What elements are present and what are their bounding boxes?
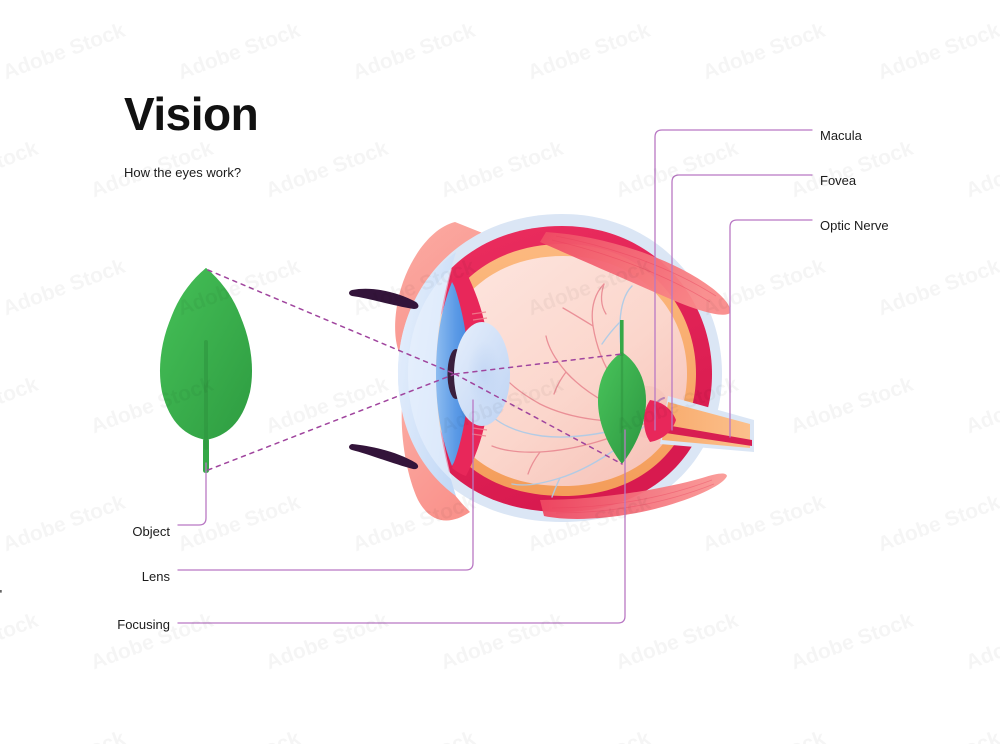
eye-structure (395, 214, 754, 522)
label-macula: Macula (820, 128, 862, 143)
label-focusing: Focusing (117, 617, 170, 632)
page-title: Vision (124, 91, 258, 137)
projected-leaf-midrib (621, 352, 623, 460)
label-fovea: Fovea (820, 173, 856, 188)
label-object: Object (132, 524, 170, 539)
leaf-midrib (204, 340, 208, 450)
label-lens: Lens (142, 569, 170, 584)
illustration-canvas: Vision How the eyes work? Macula Fovea O… (0, 0, 1000, 744)
object-leaf (158, 268, 252, 473)
lens-inner-glow (467, 341, 501, 407)
label-optic-nerve: Optic Nerve (820, 218, 889, 233)
page-subtitle: How the eyes work? (124, 165, 241, 180)
leader-object (178, 463, 206, 525)
leader-optic-nerve (730, 220, 812, 437)
watermark-side: Adobe Stock | #451169545 (0, 463, 3, 732)
projected-leaf-stem (620, 320, 624, 356)
